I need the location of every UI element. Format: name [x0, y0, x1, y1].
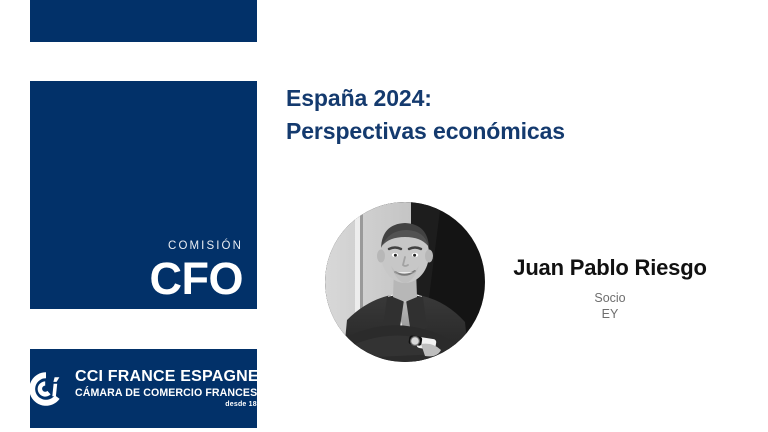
commission-eyebrow-label: COMISIÓN: [150, 241, 244, 253]
chamber-logo-tagline: desde 1883: [75, 401, 265, 408]
chamber-logo-wordmark: CCI FRANCE ESPAGNE CÁMARA DE COMERCIO FR…: [75, 369, 265, 409]
chamber-logo: CCI FRANCE ESPAGNE CÁMARA DE COMERCIO FR…: [30, 349, 257, 428]
navy-accent-block-top: [30, 0, 257, 42]
speaker-portrait-photo: [325, 202, 485, 362]
speaker-name: Juan Pablo Riesgo: [500, 255, 720, 281]
commission-panel-text: COMISIÓN CFO: [150, 241, 244, 302]
speaker-organization: EY: [500, 306, 720, 322]
speaker-role: Socio: [500, 290, 720, 306]
chamber-logo-line-1: CCI FRANCE ESPAGNE: [75, 369, 265, 385]
chamber-logo-block: CCI FRANCE ESPAGNE CÁMARA DE COMERCIO FR…: [30, 349, 257, 428]
commission-name-label: CFO: [150, 256, 244, 301]
commission-panel: COMISIÓN CFO: [30, 81, 257, 309]
speaker-details: Juan Pablo Riesgo Socio EY: [500, 255, 720, 322]
slide-title: España 2024: Perspectivas económicas: [286, 82, 565, 148]
chamber-logo-line-2: CÁMARA DE COMERCIO FRANCESA: [75, 388, 265, 399]
cci-circle-logo-icon: [26, 369, 66, 409]
slide-canvas: COMISIÓN CFO CCI FRANCE ESPAGNE: [0, 0, 768, 432]
